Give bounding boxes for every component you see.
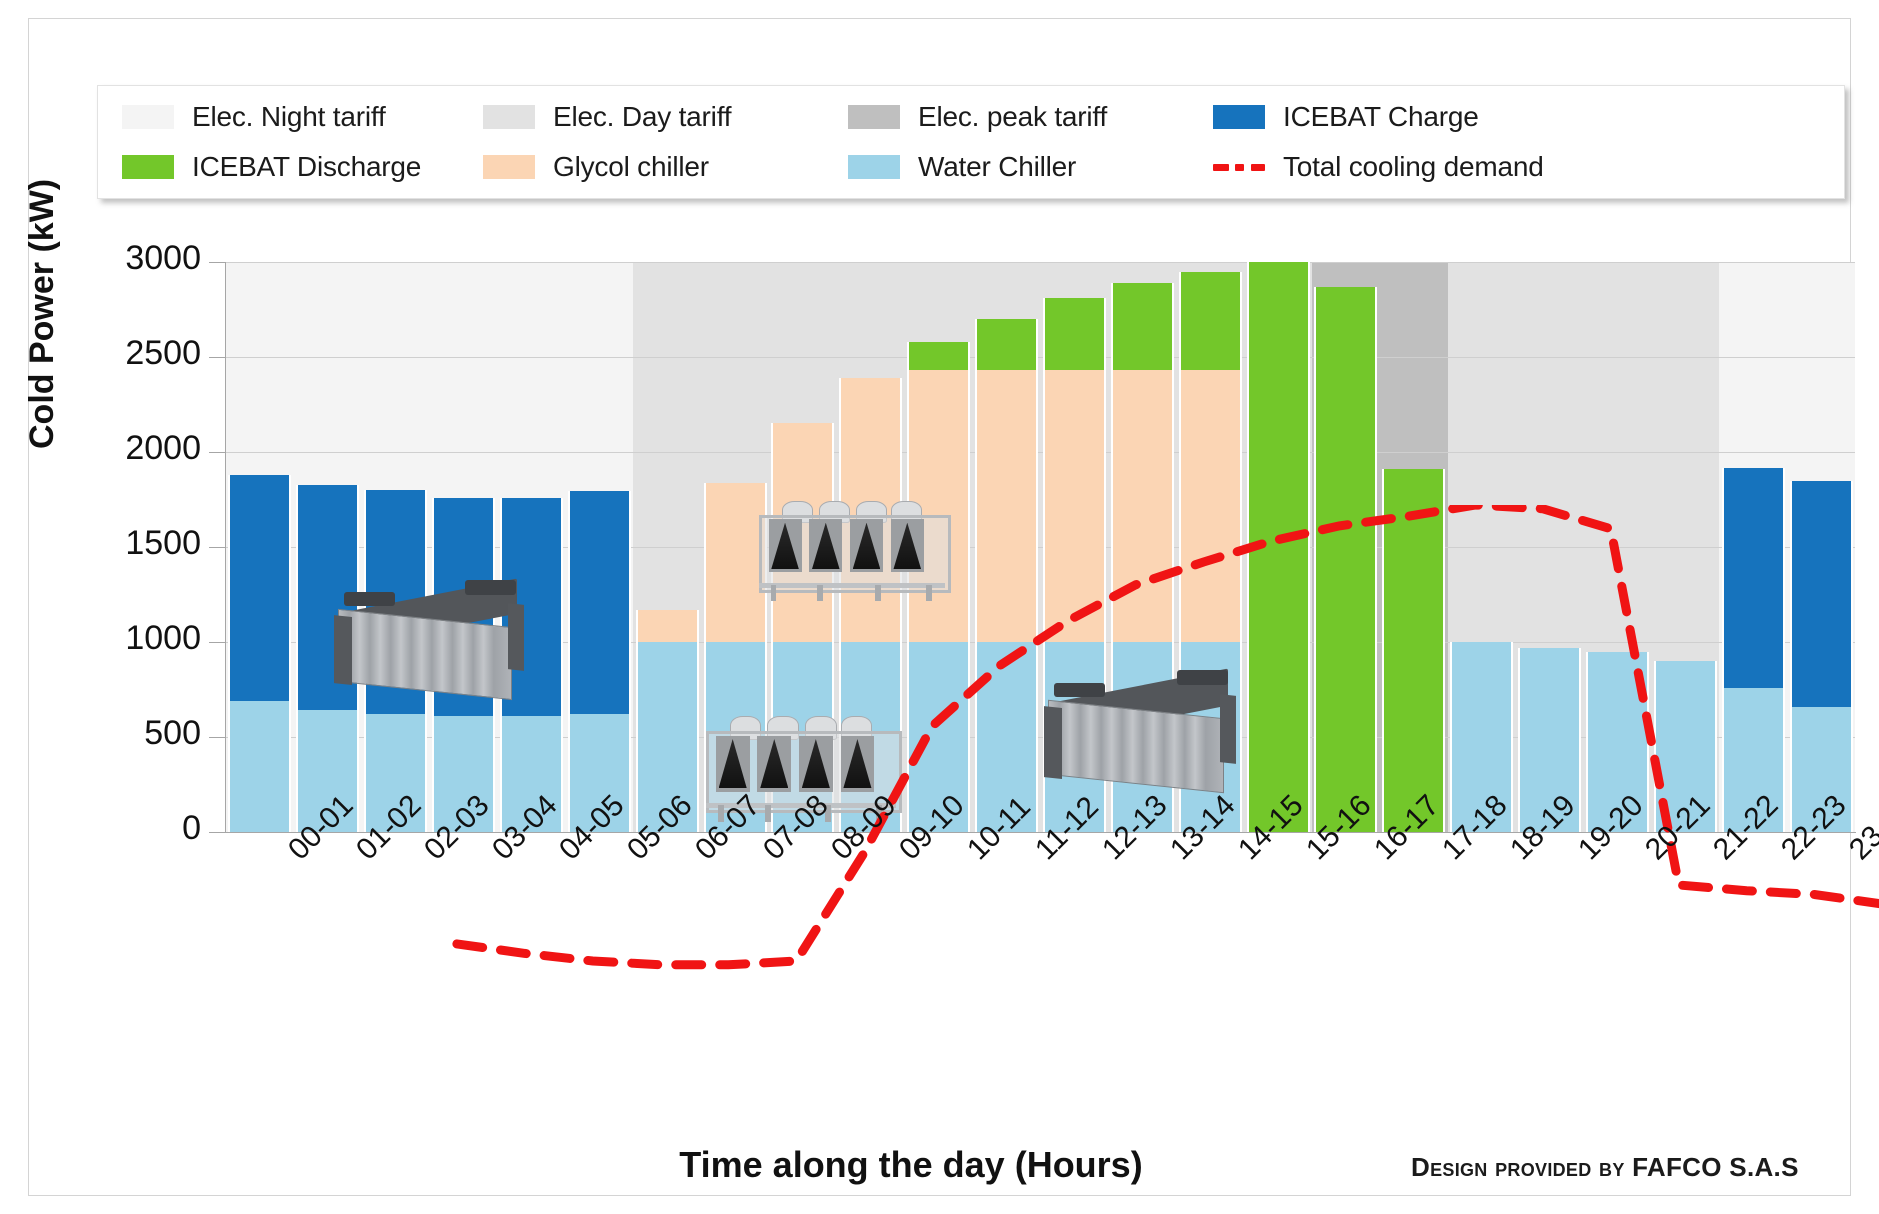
bar-segment [228, 475, 291, 701]
y-axis-tick [209, 737, 225, 738]
bar-segment [228, 701, 291, 832]
bar-segment [975, 319, 1038, 370]
bar-column[interactable] [1518, 262, 1581, 832]
x-axis-tick-label: 04-05 [553, 843, 577, 867]
bar-segment [1179, 272, 1242, 371]
glycol-chiller-swatch-icon [483, 155, 535, 179]
bar-column[interactable] [296, 262, 359, 832]
x-axis-tick-label: 13-14 [1164, 843, 1188, 867]
legend-peak-tariff[interactable]: Elec. peak tariff [828, 101, 1193, 133]
x-axis-tick-label: 17-18 [1436, 843, 1460, 867]
x-axis-tick-label: 05-06 [621, 843, 645, 867]
bar-segment [907, 342, 970, 371]
legend-water-chiller[interactable]: Water Chiller [828, 151, 1193, 183]
y-axis-title: Cold Power (kW) [23, 179, 62, 449]
legend-icebat-discharge[interactable]: ICEBAT Discharge [98, 151, 463, 183]
bar-column[interactable] [364, 262, 427, 832]
plot-area [226, 262, 1855, 832]
bar-segment [1314, 287, 1377, 832]
x-axis-tick-label: 06-07 [689, 843, 713, 867]
y-axis-tick [209, 832, 225, 833]
y-axis-tick-label: 2500 [89, 334, 201, 373]
legend-total-cooling-demand-label: Total cooling demand [1283, 151, 1544, 183]
bar-column[interactable] [500, 262, 563, 832]
legend-total-cooling-demand[interactable]: Total cooling demand [1193, 151, 1558, 183]
y-axis-tick [209, 262, 225, 263]
bar-segment [1247, 262, 1310, 832]
bar-segment [1382, 469, 1445, 832]
chart-page: Elec. Night tariff Elec. Day tariff Elec… [0, 0, 1879, 1214]
bar-column[interactable] [432, 262, 495, 832]
x-axis-tick-label: 21-22 [1707, 843, 1731, 867]
legend-icebat-discharge-label: ICEBAT Discharge [192, 151, 421, 183]
bar-segment [1722, 468, 1785, 687]
x-axis-tick-label: 01-02 [350, 843, 374, 867]
x-axis-tick-label: 00-01 [282, 843, 306, 867]
chart-frame: Elec. Night tariff Elec. Day tariff Elec… [28, 18, 1851, 1196]
y-axis-tick-label: 0 [89, 809, 201, 848]
bar-segment [1111, 370, 1174, 642]
bar-segment [568, 491, 631, 714]
x-axis-tick-label: 23-24 [1843, 843, 1867, 867]
design-credit: Design provided by FAFCO S.A.S [1411, 1152, 1799, 1183]
icebat-charge-swatch-icon [1213, 105, 1265, 129]
x-axis-tick-label: 14-15 [1232, 843, 1256, 867]
bar-segment [636, 610, 699, 642]
day-tariff-swatch-icon [483, 105, 535, 129]
glycol-chiller-photo [755, 499, 949, 601]
x-axis-tick-label: 19-20 [1572, 843, 1596, 867]
x-axis-tick-label: 18-19 [1504, 843, 1528, 867]
dashed-line-icon [1213, 155, 1265, 179]
legend-water-chiller-label: Water Chiller [918, 151, 1076, 183]
legend-row-1: Elec. Night tariff Elec. Day tariff Elec… [98, 92, 1844, 142]
legend-icebat-charge-label: ICEBAT Charge [1283, 101, 1479, 133]
bar-column[interactable] [975, 262, 1038, 832]
x-axis-tick-label: 10-11 [961, 843, 985, 867]
legend-icebat-charge[interactable]: ICEBAT Charge [1193, 101, 1558, 133]
x-axis-tick-label: 11-12 [1029, 843, 1053, 867]
x-axis-tick-label: 02-03 [418, 843, 442, 867]
icebat-container-photo-night [332, 578, 528, 696]
bar-segment [1111, 283, 1174, 370]
legend-glycol-chiller-label: Glycol chiller [553, 151, 709, 183]
x-axis-tick-label: 03-04 [486, 843, 510, 867]
y-axis-tick-label: 1500 [89, 524, 201, 563]
legend-peak-tariff-label: Elec. peak tariff [918, 101, 1107, 133]
bar-column[interactable] [568, 262, 631, 832]
bar-column[interactable] [1654, 262, 1717, 832]
icebat-container-photo-discharge [1042, 668, 1240, 790]
legend-row-2: ICEBAT Discharge Glycol chiller Water Ch… [98, 142, 1844, 192]
x-axis-tick-label: 08-09 [825, 843, 849, 867]
bar-column[interactable] [1382, 262, 1445, 832]
x-axis-title: Time along the day (Hours) [651, 1144, 1171, 1186]
bar-segment [1790, 481, 1853, 707]
x-axis-tick-label: 16-17 [1368, 843, 1392, 867]
bar-column[interactable] [1790, 262, 1853, 832]
x-axis-tick-label: 09-10 [893, 843, 917, 867]
night-tariff-swatch-icon [122, 105, 174, 129]
x-axis-tick-label: 22-23 [1775, 843, 1799, 867]
bar-segment [1043, 370, 1106, 642]
x-axis-tick-label: 12-13 [1096, 843, 1120, 867]
bar-column[interactable] [1450, 262, 1513, 832]
y-axis-tick-label: 3000 [89, 239, 201, 278]
legend-day-tariff-label: Elec. Day tariff [553, 101, 731, 133]
bar-column[interactable] [1314, 262, 1377, 832]
y-axis-tick-label: 2000 [89, 429, 201, 468]
water-chiller-swatch-icon [848, 155, 900, 179]
icebat-discharge-swatch-icon [122, 155, 174, 179]
x-axis-tick-label: 15-16 [1300, 843, 1324, 867]
bar-column[interactable] [228, 262, 291, 832]
y-axis-tick-label: 500 [89, 714, 201, 753]
x-axis-tick-label: 07-08 [757, 843, 781, 867]
legend-day-tariff[interactable]: Elec. Day tariff [463, 101, 828, 133]
bar-column[interactable] [1586, 262, 1649, 832]
y-axis-tick [209, 357, 225, 358]
bar-segment [1043, 298, 1106, 370]
y-axis-tick [209, 452, 225, 453]
x-axis-tick-label: 20-21 [1639, 843, 1663, 867]
legend-night-tariff[interactable]: Elec. Night tariff [98, 101, 463, 133]
legend-glycol-chiller[interactable]: Glycol chiller [463, 151, 828, 183]
y-axis-tick [209, 547, 225, 548]
peak-tariff-swatch-icon [848, 105, 900, 129]
legend-night-tariff-label: Elec. Night tariff [192, 101, 386, 133]
y-axis-tick [209, 642, 225, 643]
bar-segment [1179, 370, 1242, 642]
bar-segment [975, 370, 1038, 642]
chart-legend: Elec. Night tariff Elec. Day tariff Elec… [97, 85, 1845, 199]
bar-column[interactable] [1247, 262, 1310, 832]
bar-column[interactable] [636, 262, 699, 832]
bar-column[interactable] [1722, 262, 1785, 832]
y-axis-tick-label: 1000 [89, 619, 201, 658]
